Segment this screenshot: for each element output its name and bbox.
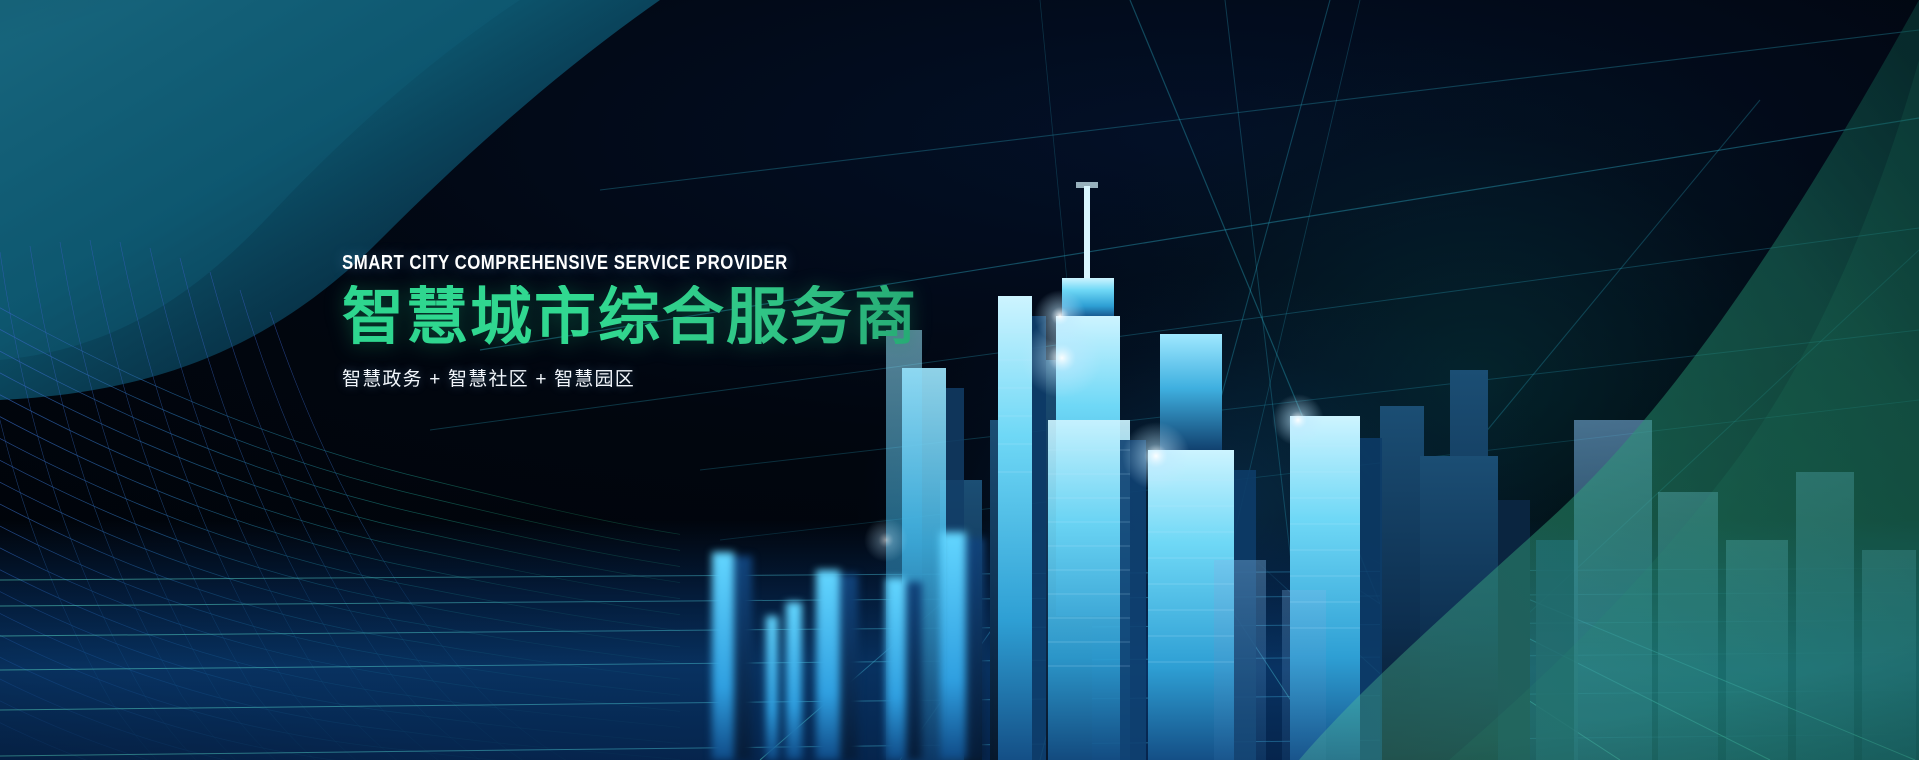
hero-headline: 智慧城市综合服务商	[342, 285, 1102, 350]
hero-eyebrow: SMART CITY COMPREHENSIVE SERVICE PROVIDE…	[342, 252, 980, 275]
hero-banner: SMART CITY COMPREHENSIVE SERVICE PROVIDE…	[0, 0, 1919, 760]
hero-copy-block: SMART CITY COMPREHENSIVE SERVICE PROVIDE…	[342, 252, 1102, 391]
foreground-blurred-bars	[690, 460, 1110, 760]
right-green-sweep	[1299, 0, 1919, 760]
hero-subline: 智慧政务 + 智慧社区 + 智慧园区	[342, 364, 1102, 391]
